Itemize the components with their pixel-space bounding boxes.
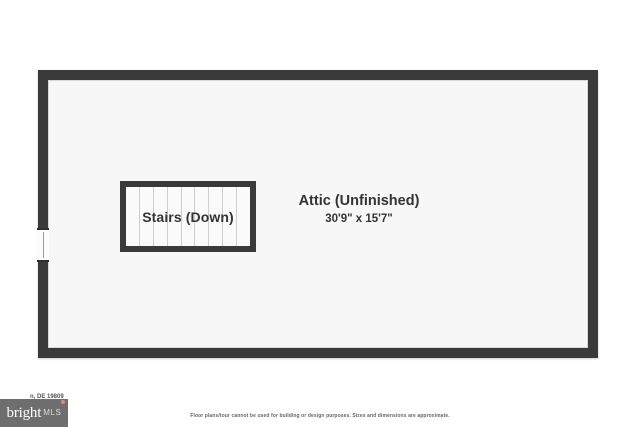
attic-label-group: Attic (Unfinished) 30'9" x 15'7" [264,192,454,227]
attic-room-name: Attic (Unfinished) [264,192,454,210]
brand-spark-icon [61,400,65,404]
window-icon [37,228,49,262]
disclaimer-text: Floor plans/tour cannot be used for buil… [0,413,640,419]
stairs-block: Stairs (Down) [120,181,256,252]
footer-bar: n, DE 19809 Floor plans/tour cannot be u… [0,387,640,427]
floorplan-canvas: Stairs (Down) Attic (Unfinished) 30'9" x… [0,0,640,390]
brand-suffix-text: MLS [43,408,61,418]
attic-room-dimensions: 30'9" x 15'7" [264,213,454,227]
brand-name-text: bright [7,405,42,422]
stairs-label: Stairs (Down) [126,209,250,225]
bright-mls-logo: bright MLS [0,399,68,427]
